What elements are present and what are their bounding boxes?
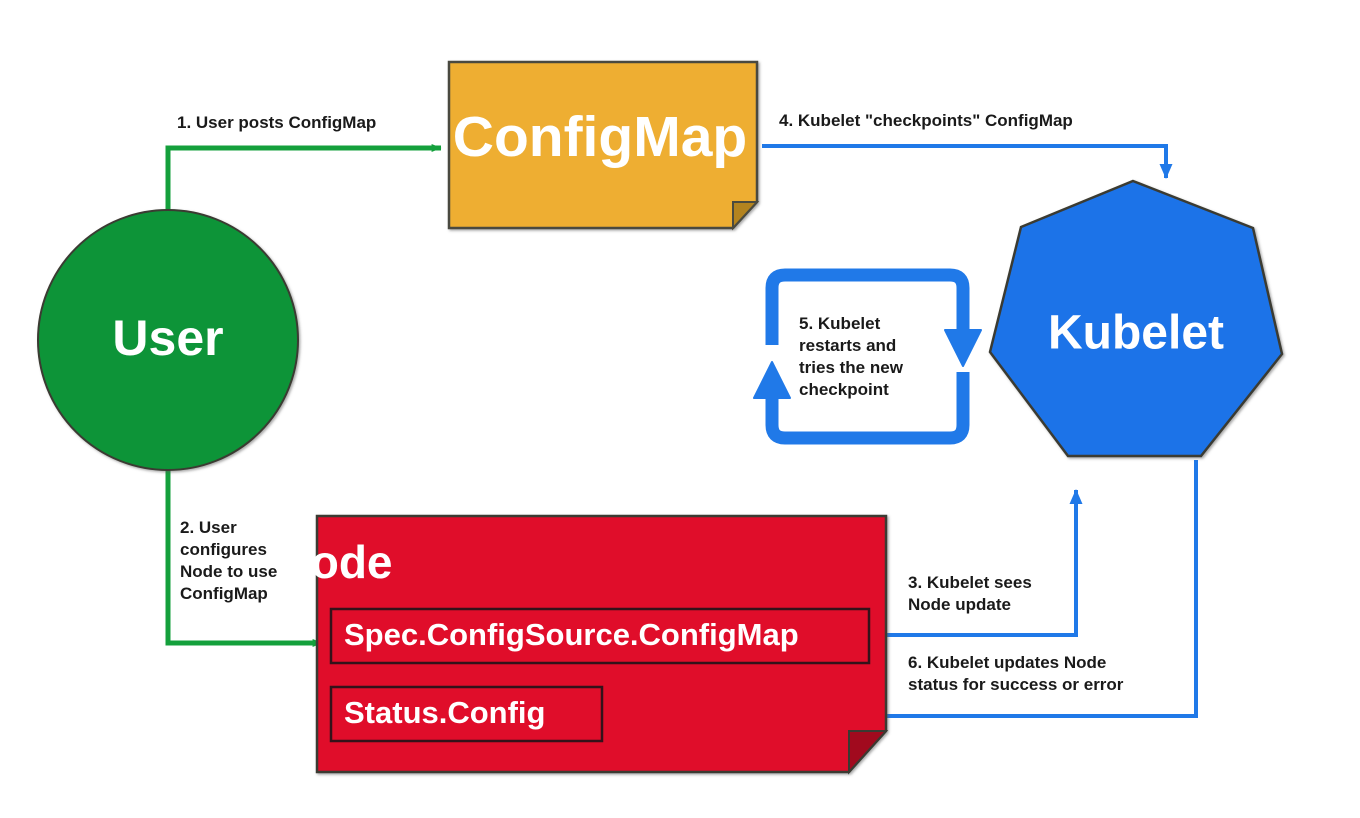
step-5-down-arrowhead xyxy=(945,330,981,366)
edge-label-step-5: 5. Kubelet restarts and tries the new ch… xyxy=(799,314,904,399)
node-label: Node xyxy=(278,536,393,588)
step-6-label-line-0: 6. Kubelet updates Node xyxy=(908,653,1106,672)
edge-label-step-3: 3. Kubelet sees Node update xyxy=(908,573,1032,614)
edge-label-step-2: 2. User configures Node to use ConfigMap xyxy=(180,518,277,603)
field-status-config-label: Status.Config xyxy=(344,695,546,730)
node-kubelet[interactable]: Kubelet xyxy=(990,181,1282,456)
step-2-label-line-3: ConfigMap xyxy=(180,584,268,603)
step-1-label-line-0: 1. User posts ConfigMap xyxy=(177,113,376,132)
step-2-label-line-2: Node to use xyxy=(180,562,277,581)
step-2-label-line-0: 2. User xyxy=(180,518,237,537)
edge-label-step-1: 1. User posts ConfigMap xyxy=(177,113,376,132)
edge-step-4 xyxy=(762,146,1166,178)
node-configmap[interactable]: ConfigMap xyxy=(449,62,757,228)
node-node[interactable]: Node Spec.ConfigSource.ConfigMap Status.… xyxy=(278,516,887,772)
kubelet-config-flow-diagram: User ConfigMap Kubelet Node Spec.ConfigS… xyxy=(0,0,1360,818)
step-3-label-line-1: Node update xyxy=(908,595,1011,614)
kubelet-label: Kubelet xyxy=(1048,307,1224,360)
edge-label-step-4: 4. Kubelet "checkpoints" ConfigMap xyxy=(779,111,1073,130)
step-6-label-line-1: status for success or error xyxy=(908,675,1124,694)
node-folded-corner xyxy=(849,731,886,772)
step-5-loop-top xyxy=(772,275,963,345)
step-5-up-arrowhead xyxy=(754,362,790,398)
step-5-label-line-3: checkpoint xyxy=(799,380,889,399)
node-user[interactable]: User xyxy=(38,210,298,470)
configmap-label: ConfigMap xyxy=(453,105,747,169)
user-label: User xyxy=(112,310,223,366)
step-2-label-line-1: configures xyxy=(180,540,267,559)
edge-label-step-6: 6. Kubelet updates Node status for succe… xyxy=(908,653,1124,694)
step-3-label-line-0: 3. Kubelet sees xyxy=(908,573,1032,592)
step-5-label-line-2: tries the new xyxy=(799,358,904,377)
step-4-label-line-0: 4. Kubelet "checkpoints" ConfigMap xyxy=(779,111,1073,130)
step-4-arrow-path xyxy=(762,146,1166,178)
edge-step-5 xyxy=(754,275,981,438)
configmap-folded-corner xyxy=(733,202,757,228)
step-5-label-line-1: restarts and xyxy=(799,336,896,355)
diagram-canvas: User ConfigMap Kubelet Node Spec.ConfigS… xyxy=(0,0,1360,818)
step-5-label-line-0: 5. Kubelet xyxy=(799,314,881,333)
field-spec-configsource-configmap-label: Spec.ConfigSource.ConfigMap xyxy=(344,617,799,652)
